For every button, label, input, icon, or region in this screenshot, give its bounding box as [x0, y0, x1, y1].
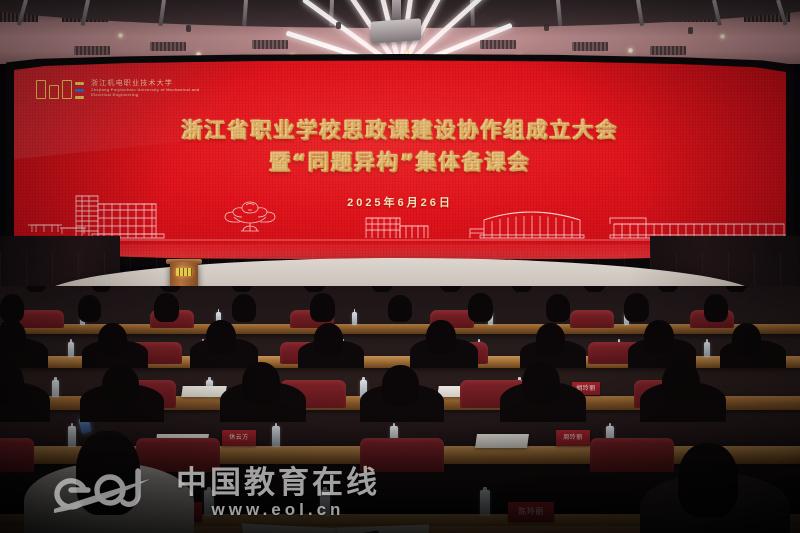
audience-head — [26, 286, 46, 292]
water-bottle — [704, 342, 710, 357]
water-bottle — [272, 426, 280, 447]
lotus-emblem-icon — [219, 194, 281, 238]
nameplate-label: 陈玲丽 — [518, 508, 544, 516]
ceiling-downlight — [118, 33, 123, 38]
ceiling-speaker — [186, 25, 191, 32]
podium-emblem-icon — [176, 268, 192, 276]
logo-bar-3 — [62, 80, 72, 99]
screenshot-root: 浙江机电职业技术大学 Zhejiang Polytechnic Universi… — [0, 0, 800, 533]
audience-head — [372, 286, 392, 292]
led-screen: 浙江机电职业技术大学 Zhejiang Polytechnic Universi… — [14, 60, 786, 260]
audience-head — [0, 294, 24, 322]
audience-head — [242, 362, 280, 404]
audience-area: 李树丽 胡玲丽 — [0, 286, 800, 533]
audience-head — [440, 286, 461, 292]
ceiling-projector — [371, 18, 421, 43]
audience-head — [0, 362, 24, 404]
foreground-person-head — [76, 431, 140, 515]
ceiling-speaker — [544, 24, 549, 31]
university-name-en: Zhejiang Polytechnic University of Mecha… — [91, 88, 209, 97]
water-bottle — [480, 490, 490, 516]
nameplate-label: 周玲丽 — [563, 435, 583, 441]
audience-head — [584, 286, 605, 292]
audience-head — [732, 323, 761, 356]
audience-head — [624, 293, 649, 322]
chair-back — [20, 310, 64, 328]
logo-bar-1 — [36, 80, 46, 99]
ceiling-downlight — [720, 34, 725, 39]
ceiling-speaker — [688, 27, 693, 34]
audience-head — [704, 294, 728, 322]
audience-head — [658, 286, 678, 292]
audience-head — [102, 365, 139, 406]
university-logo: 浙江机电职业技术大学 Zhejiang Polytechnic Universi… — [36, 78, 209, 99]
document-paper — [181, 386, 227, 397]
audience-head — [644, 320, 674, 354]
logo-bar-4 — [75, 82, 84, 99]
audience-head — [232, 294, 256, 322]
audience-head — [314, 323, 343, 356]
audience-head — [160, 286, 181, 292]
ceiling-downlight — [628, 48, 633, 53]
audience-head — [232, 286, 252, 292]
ceiling-vent — [74, 46, 110, 55]
document-paper — [475, 434, 529, 448]
audience-head — [468, 293, 493, 322]
ceiling-vent — [480, 40, 516, 49]
nameplate: 休云方 — [222, 430, 256, 446]
water-bottle — [204, 490, 214, 516]
university-name-cn: 浙江机电职业技术大学 — [91, 79, 209, 87]
audience-head — [154, 293, 179, 322]
logo-bar-2 — [49, 85, 59, 99]
water-bottle — [68, 426, 76, 447]
event-title-line2: 暨“同题异构”集体备课会 — [14, 150, 786, 176]
audience-head — [304, 286, 325, 292]
audience-head — [206, 320, 236, 354]
audience-head — [726, 286, 747, 292]
nameplate: 周玲丽 — [556, 430, 590, 446]
chair-back — [570, 310, 614, 328]
audience-head — [310, 293, 335, 322]
event-title: 浙江省职业学校思政课建设协作组成立大会 暨“同题异构”集体备课会 — [14, 118, 786, 175]
water-bottle — [352, 312, 357, 325]
ceiling-vent — [572, 42, 608, 51]
water-bottle — [68, 342, 74, 357]
audience-head — [546, 294, 570, 322]
nameplate-label: 休云方 — [229, 435, 249, 441]
event-date: 2025年6月26日 — [14, 194, 786, 210]
logo-mark-icon — [36, 78, 84, 99]
university-name-block: 浙江机电职业技术大学 Zhejiang Polytechnic Universi… — [91, 78, 209, 97]
nameplate: 陈玲丽 — [508, 502, 554, 522]
audience-head — [382, 365, 419, 406]
audience-head — [78, 295, 101, 322]
audience-head — [426, 320, 456, 354]
audience-head — [512, 286, 532, 292]
water-bottle — [52, 380, 59, 397]
chair-back — [0, 438, 34, 472]
ceiling-vent — [650, 46, 686, 55]
ceiling-speaker — [336, 22, 341, 29]
audience-head — [92, 286, 111, 292]
event-title-line1: 浙江省职业学校思政课建设协作组成立大会 — [14, 118, 786, 144]
water-bottle — [320, 490, 330, 516]
audience-head — [0, 320, 26, 354]
audience-head — [662, 362, 700, 404]
chair-back — [590, 438, 674, 472]
ceiling-vent — [150, 42, 186, 51]
ceiling-vent — [252, 40, 288, 49]
audience-head — [522, 362, 560, 404]
foreground-person-head — [678, 443, 738, 517]
chair-back — [360, 438, 444, 472]
audience-head — [536, 323, 565, 356]
audience-head — [98, 323, 127, 356]
audience-head — [388, 295, 412, 322]
